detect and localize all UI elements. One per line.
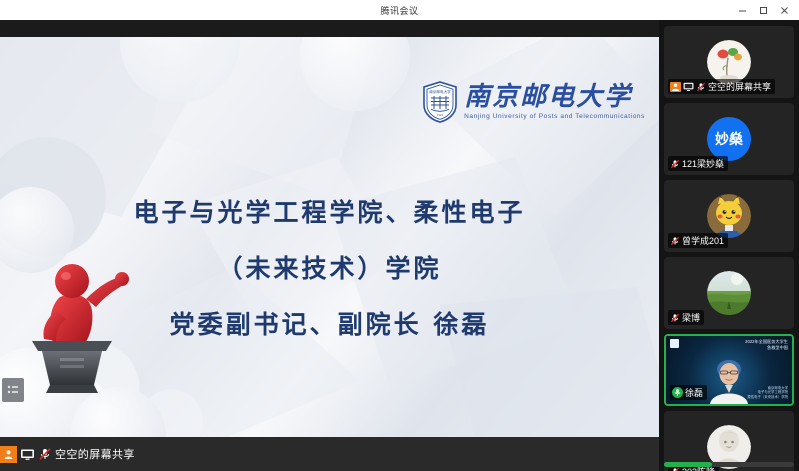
presenter-mascot-illustration: [16, 245, 146, 395]
screen-share-owner-label: 空空的屏幕共享: [55, 446, 135, 462]
avatar: [707, 194, 751, 238]
university-logo: 南京邮电大学 1942 南京邮电大学 Nanjing University of…: [422, 81, 645, 123]
video-overlay-affiliation: 南京邮电大学电子与光学工程学院柔性电子（未来技术）学院: [747, 386, 788, 400]
participant-tile[interactable]: 梁博: [664, 257, 794, 329]
participant-label: 曾学成201: [668, 233, 728, 248]
screen-share-bar: 空空的屏幕共享: [0, 437, 659, 471]
title-bar: 腾讯会议: [0, 0, 799, 20]
participant-rail[interactable]: 空空的屏幕共享 妙燊 121梁妙燊: [659, 20, 799, 471]
rail-scrollbar-track[interactable]: [664, 462, 794, 467]
avatar: [707, 271, 751, 315]
ppt-menu-icon[interactable]: [2, 378, 24, 402]
svg-text:1942: 1942: [437, 114, 444, 117]
window-controls: [732, 0, 795, 20]
mic-muted-icon: [670, 236, 680, 246]
participant-name: 121梁妙燊: [682, 157, 724, 170]
participant-tile[interactable]: 空空的屏幕共享: [664, 26, 794, 98]
mic-muted-icon: [670, 467, 680, 471]
rail-scrollbar-thumb[interactable]: [664, 462, 712, 467]
screen-share-owner: 空空的屏幕共享: [0, 446, 135, 463]
slide-headline-line-1: 电子与光学工程学院、柔性电子: [0, 185, 659, 241]
participant-name: 空空的屏幕共享: [708, 80, 771, 93]
mic-active-icon: [672, 387, 683, 398]
svg-text:南京邮电大学: 南京邮电大学: [429, 89, 451, 94]
university-crest-icon: 南京邮电大学 1942: [422, 81, 458, 123]
close-icon[interactable]: [774, 0, 795, 20]
participant-label: 徐磊: [670, 385, 707, 400]
participant-name: 徐磊: [685, 386, 703, 399]
participant-tile-active-speaker[interactable]: 2022年全国医务大学生急救型中国 南京邮电大学电子与光学工程学院柔性电子（未来…: [664, 334, 794, 406]
mic-muted-icon: [38, 447, 52, 461]
avatar: 妙燊: [707, 117, 751, 161]
video-overlay-logo: [670, 339, 679, 348]
participant-tile[interactable]: 妙燊 121梁妙燊: [664, 103, 794, 175]
shared-screen-stage[interactable]: 南京邮电大学 1942 南京邮电大学 Nanjing University of…: [0, 20, 659, 471]
university-name-en: Nanjing University of Posts and Telecomm…: [464, 113, 645, 120]
screen-share-icon: [20, 448, 35, 461]
participant-tile[interactable]: 曾学成201: [664, 180, 794, 252]
university-crest-icon: [670, 339, 679, 348]
video-overlay-title: 2022年全国医务大学生急救型中国: [745, 339, 788, 350]
participant-label: 121梁妙燊: [668, 156, 728, 171]
host-icon: [0, 446, 17, 463]
mic-muted-icon: [696, 82, 706, 92]
university-name: 南京邮电大学 Nanjing University of Posts and T…: [464, 84, 645, 120]
participant-label: 梁博: [668, 310, 704, 325]
screen-share-icon: [683, 82, 694, 92]
university-name-cn: 南京邮电大学: [464, 84, 645, 110]
tencent-meeting-window: 腾讯会议: [0, 0, 799, 471]
window-title: 腾讯会议: [380, 4, 418, 17]
avatar: [707, 40, 751, 84]
mic-muted-icon: [670, 313, 680, 323]
speaker-portrait: [706, 352, 752, 404]
maximize-icon[interactable]: [753, 0, 774, 20]
participant-name: 梁博: [682, 311, 700, 324]
mic-muted-icon: [670, 159, 680, 169]
participant-label: 空空的屏幕共享: [668, 79, 775, 94]
minimize-icon[interactable]: [732, 0, 753, 20]
participant-name: 曾学成201: [682, 234, 724, 247]
presentation-slide: 南京邮电大学 1942 南京邮电大学 Nanjing University of…: [0, 37, 659, 437]
host-icon: [670, 82, 681, 92]
